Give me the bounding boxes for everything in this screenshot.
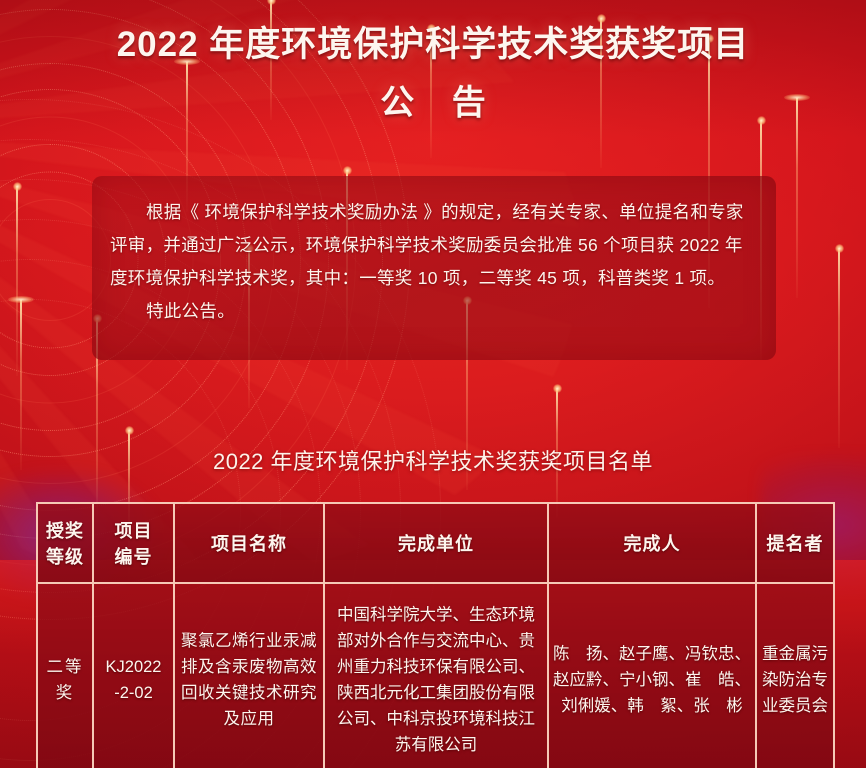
cell-nominator: 重金属污染防治专业委员会 (756, 583, 834, 768)
column-header-grade: 授奖 等级 (37, 503, 93, 583)
announcement-paragraph-2: 特此公告。 (110, 295, 760, 328)
column-header-grade-line2: 等级 (42, 543, 88, 569)
award-list-table: 授奖 等级 项目 编号 项目名称 完成单位 完成人 提名者 二等奖 KJ2022… (36, 502, 835, 768)
cell-project-code-line1: KJ2022 (98, 654, 169, 680)
table-row: 二等奖 KJ2022 -2-02 聚氯乙烯行业汞减排及含汞废物高效回收关键技术研… (37, 583, 834, 768)
light-beam-11 (796, 98, 798, 298)
poster-title-line1: 2022 年度环境保护科学技术奖获奖项目 (0, 22, 866, 68)
announcement-text: 根据《 环境保护科学技术奖励办法 》的规定，经有关专家、单位提名和专家评审，并通… (110, 196, 760, 328)
column-header-grade-line1: 授奖 (42, 517, 88, 543)
award-list-title: 2022 年度环境保护科学技术奖获奖项目名单 (0, 444, 866, 476)
cell-project-name: 聚氯乙烯行业汞减排及含汞废物高效回收关键技术研究及应用 (174, 583, 324, 768)
column-header-code-line1: 项目 (98, 517, 169, 543)
column-header-code-line2: 编号 (98, 543, 169, 569)
column-header-nominator: 提名者 (756, 503, 834, 583)
cell-project-code: KJ2022 -2-02 (93, 583, 174, 768)
light-beam-12 (838, 248, 840, 448)
column-header-code: 项目 编号 (93, 503, 174, 583)
light-beam-1 (16, 186, 18, 376)
column-header-unit: 完成单位 (324, 503, 548, 583)
cell-completing-persons: 陈 扬、赵子鹰、冯钦忠、赵应黔、宁小钢、崔 皓、刘俐媛、韩 絮、张 彬 (548, 583, 756, 768)
cell-award-grade: 二等奖 (37, 583, 93, 768)
table-header-row: 授奖 等级 项目 编号 项目名称 完成单位 完成人 提名者 (37, 503, 834, 583)
cell-project-code-line2: -2-02 (98, 680, 169, 706)
poster-title-block: 2022 年度环境保护科学技术奖获奖项目 公 告 (0, 22, 866, 126)
column-header-project-name: 项目名称 (174, 503, 324, 583)
poster-root: 2022 年度环境保护科学技术奖获奖项目 公 告 根据《 环境保护科学技术奖励办… (0, 0, 866, 768)
column-header-person: 完成人 (548, 503, 756, 583)
announcement-paragraph-1: 根据《 环境保护科学技术奖励办法 》的规定，经有关专家、单位提名和专家评审，并通… (110, 196, 760, 295)
poster-title-line2: 公 告 (0, 80, 866, 126)
cell-completing-units: 中国科学院大学、生态环境部对外合作与交流中心、贵州重力科技环保有限公司、陕西北元… (324, 583, 548, 768)
